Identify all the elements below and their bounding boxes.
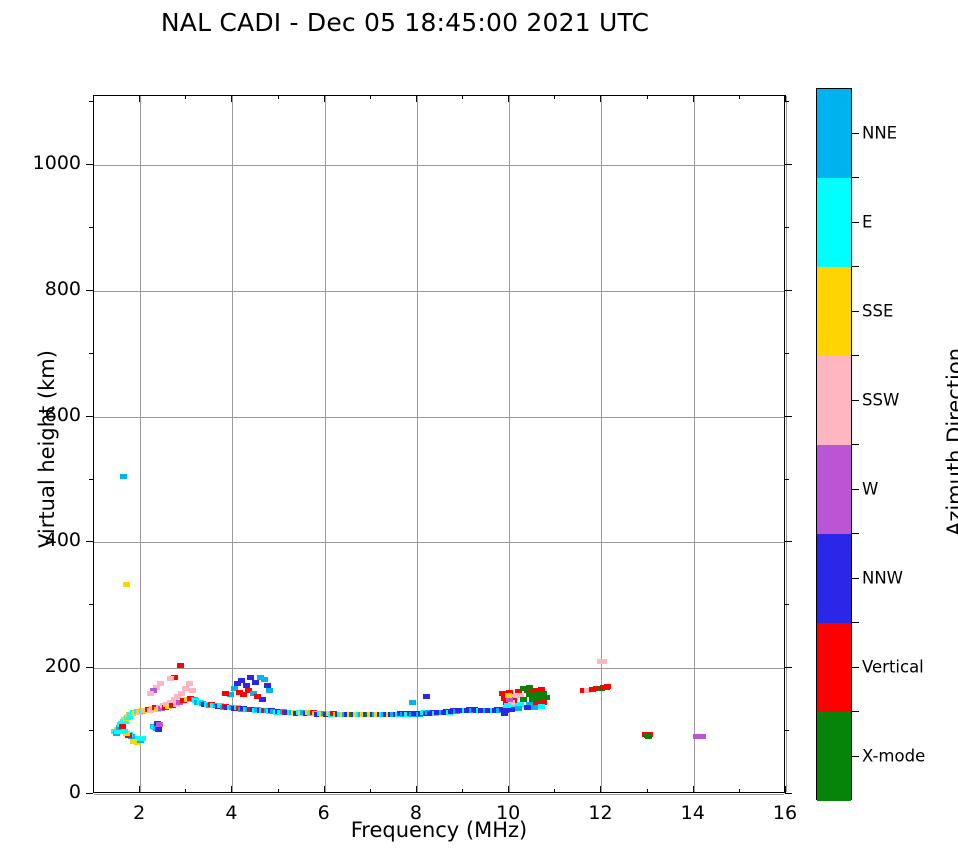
y-tick-minor (785, 479, 789, 480)
colorbar-segment-ssw (817, 356, 851, 445)
x-tick-minor (185, 95, 186, 99)
data-point (120, 474, 127, 479)
data-point (123, 582, 130, 587)
colorbar-tick (852, 400, 859, 401)
y-tick (785, 164, 792, 165)
colorbar-boundary-tick (852, 355, 859, 356)
y-tick (86, 667, 93, 668)
colorbar-segment-nnw (817, 534, 851, 623)
colorbar-segment-e (817, 178, 851, 267)
data-point (177, 663, 184, 668)
azimuth-colorbar (816, 88, 852, 800)
data-point (505, 693, 512, 698)
x-tick (508, 95, 509, 102)
y-tick-minor (785, 353, 789, 354)
y-tick-minor (785, 604, 789, 605)
data-point (130, 739, 137, 744)
y-tick-minor (785, 101, 789, 102)
x-tick (693, 95, 694, 102)
colorbar-label-nne: NNE (862, 123, 897, 142)
x-tick-minor (370, 789, 371, 793)
x-tick-minor (278, 95, 279, 99)
x-tick-minor (93, 789, 94, 793)
colorbar-boundary-tick (852, 533, 859, 534)
colorbar-segment-sse (817, 267, 851, 356)
colorbar-segment-nne (817, 89, 851, 178)
y-tick-label: 1000 (11, 152, 81, 174)
x-tick (324, 786, 325, 793)
y-tick (86, 290, 93, 291)
page-title: NAL CADI - Dec 05 18:45:00 2021 UTC (0, 8, 810, 37)
x-tick-minor (554, 789, 555, 793)
colorbar-label-e: E (862, 212, 872, 231)
data-point (259, 697, 266, 702)
data-point (167, 676, 174, 681)
data-point (597, 659, 604, 664)
x-tick-minor (647, 95, 648, 99)
data-point (266, 688, 273, 693)
data-point (409, 700, 416, 705)
x-tick (324, 95, 325, 102)
colorbar-title: Azimuth Direction (943, 232, 958, 652)
colorbar-boundary-tick (852, 177, 859, 178)
y-tick-minor (89, 730, 93, 731)
y-tick (785, 416, 792, 417)
data-point (182, 686, 189, 691)
plot-area (93, 95, 785, 793)
x-tick-minor (739, 789, 740, 793)
data-point (423, 694, 430, 699)
colorbar-tick (852, 489, 859, 490)
colorbar-label-vertical: Vertical (862, 657, 924, 676)
y-tick (785, 793, 792, 794)
data-point (252, 680, 259, 685)
y-tick (785, 667, 792, 668)
colorbar-boundary-tick (852, 711, 859, 712)
y-tick-minor (785, 227, 789, 228)
y-tick (86, 164, 93, 165)
y-tick-minor (89, 353, 93, 354)
x-tick (231, 95, 232, 102)
data-point (504, 703, 511, 708)
y-tick-label: 0 (11, 781, 81, 803)
y-tick (86, 416, 93, 417)
gridline-horizontal (94, 794, 784, 795)
colorbar-boundary-tick (852, 622, 859, 623)
y-tick-minor (89, 604, 93, 605)
colorbar-tick (852, 578, 859, 579)
x-tick-minor (462, 789, 463, 793)
data-point (222, 691, 229, 696)
x-tick-minor (554, 95, 555, 99)
data-point (699, 734, 706, 739)
x-tick (139, 95, 140, 102)
y-tick (86, 793, 93, 794)
x-tick-minor (647, 789, 648, 793)
y-tick (785, 541, 792, 542)
data-point (155, 727, 162, 732)
y-tick (86, 541, 93, 542)
data-point (538, 704, 545, 709)
y-axis-title: Virtual height (km) (35, 269, 59, 629)
colorbar-segment-vertical (817, 623, 851, 712)
colorbar-tick (852, 667, 859, 668)
colorbar-label-sse: SSE (862, 301, 893, 320)
data-point (604, 684, 611, 689)
colorbar-segment-x-mode (817, 712, 851, 801)
gridline-vertical (786, 96, 787, 792)
x-tick (508, 786, 509, 793)
x-tick-minor (185, 789, 186, 793)
colorbar-label-ssw: SSW (862, 390, 899, 409)
x-axis-title: Frequency (MHz) (93, 818, 785, 842)
data-point (156, 722, 163, 727)
y-tick-minor (89, 101, 93, 102)
colorbar-label-x-mode: X-mode (862, 746, 925, 765)
x-tick-minor (370, 95, 371, 99)
x-tick (416, 786, 417, 793)
data-point (515, 706, 522, 711)
data-point (526, 685, 533, 690)
colorbar-label-nnw: NNW (862, 568, 903, 587)
x-tick-minor (93, 95, 94, 99)
x-tick-minor (739, 95, 740, 99)
colorbar-boundary-tick (852, 444, 859, 445)
data-point (513, 693, 520, 698)
colorbar-boundary-tick (852, 266, 859, 267)
colorbar-tick (852, 133, 859, 134)
colorbar-segment-w (817, 445, 851, 534)
x-tick-minor (278, 789, 279, 793)
x-tick-minor (462, 95, 463, 99)
colorbar-tick (852, 756, 859, 757)
x-tick (416, 95, 417, 102)
y-tick (785, 290, 792, 291)
data-point (147, 691, 154, 696)
data-point (186, 681, 193, 686)
scatter-data-layer (94, 96, 784, 792)
data-point (121, 729, 128, 734)
data-point (240, 692, 247, 697)
data-point (178, 691, 185, 696)
x-tick (600, 95, 601, 102)
x-tick (785, 786, 786, 793)
data-point (119, 724, 126, 729)
colorbar-tick (852, 311, 859, 312)
y-tick-label: 200 (11, 655, 81, 677)
x-tick (231, 786, 232, 793)
y-tick-minor (89, 227, 93, 228)
x-tick (600, 786, 601, 793)
x-tick (693, 786, 694, 793)
colorbar-tick (852, 222, 859, 223)
x-tick (139, 786, 140, 793)
y-tick-minor (785, 730, 789, 731)
data-point (645, 734, 652, 739)
y-tick-minor (89, 479, 93, 480)
data-point (139, 736, 146, 741)
colorbar-label-w: W (862, 479, 878, 498)
data-point (189, 688, 196, 693)
data-point (261, 677, 268, 682)
